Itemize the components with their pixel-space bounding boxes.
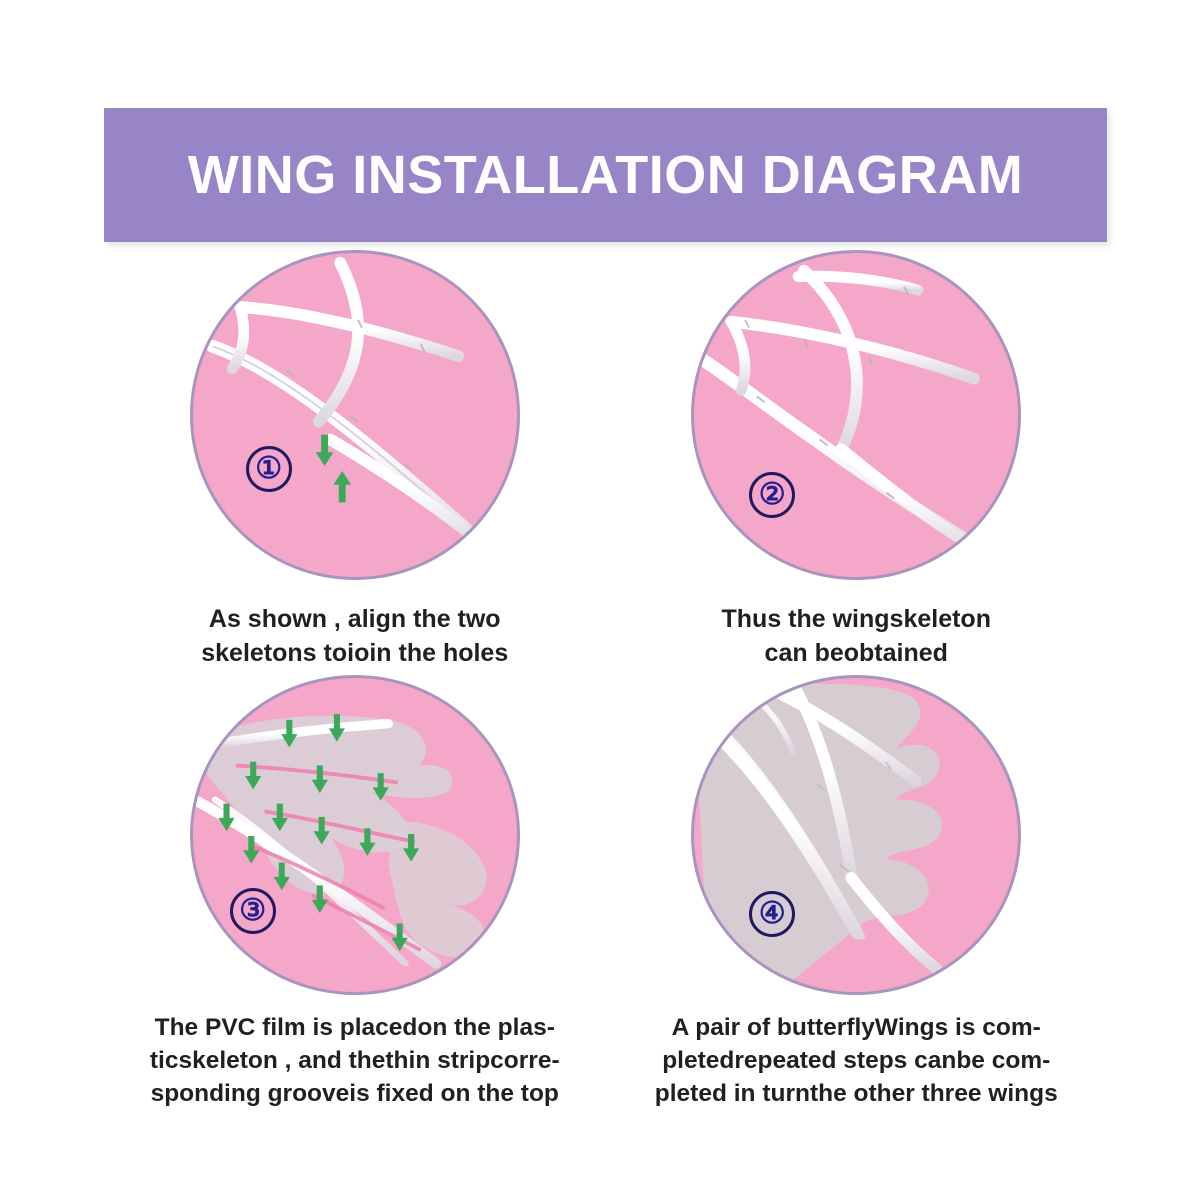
- step-2-caption-line-1: Thus the wingskeleton: [722, 602, 991, 636]
- step-2-caption-line-2: can beobtained: [722, 636, 991, 670]
- step-1-photo-clip: [193, 253, 517, 577]
- step-1-caption-line-1: As shown , align the two: [201, 602, 508, 636]
- step-4-caption-line-1: A pair of butterflyWings is com-: [655, 1011, 1058, 1044]
- steps-grid: ① As shown , align the two skeletons toi…: [104, 250, 1107, 1110]
- step-3: ③ The PVC film is placedon the plas- tic…: [104, 675, 606, 1110]
- step-badge-2: ②: [749, 472, 795, 518]
- step-3-caption-line-2: ticskeleton , and thethin stripcorre-: [150, 1044, 560, 1077]
- step-3-photo-clip: [193, 678, 517, 992]
- step-1-skeleton-illustration: [193, 253, 517, 577]
- step-3-pvc-film-illustration: [193, 678, 517, 992]
- step-2: ② Thus the wingskeleton can beobtained: [606, 250, 1108, 675]
- step-1-image-wrap: ①: [190, 250, 520, 580]
- step-4-caption-line-3: pleted in turnthe other three wings: [655, 1077, 1058, 1110]
- step-3-caption-line-3: sponding grooveis fixed on the top: [150, 1077, 560, 1110]
- step-badge-4: ④: [749, 891, 795, 937]
- step-1-caption: As shown , align the two skeletons toioi…: [201, 602, 508, 670]
- step-3-caption: The PVC film is placedon the plas- ticsk…: [150, 1011, 560, 1110]
- step-4-caption: A pair of butterflyWings is com- pletedr…: [655, 1011, 1058, 1110]
- step-2-photo-circle: [691, 250, 1021, 580]
- step-1-caption-line-2: skeletons toioin the holes: [201, 636, 508, 670]
- step-2-image-wrap: ②: [691, 250, 1021, 580]
- step-4-photo-circle: [691, 675, 1021, 995]
- header-banner: WING INSTALLATION DIAGRAM: [104, 108, 1107, 242]
- step-2-caption: Thus the wingskeleton can beobtained: [722, 602, 991, 670]
- step-1-photo-circle: [190, 250, 520, 580]
- wing-installation-diagram-page: WING INSTALLATION DIAGRAM: [0, 0, 1200, 1200]
- step-4-photo-clip: [694, 678, 1018, 992]
- step-badge-1: ①: [246, 446, 292, 492]
- step-3-caption-line-1: The PVC film is placedon the plas-: [150, 1011, 560, 1044]
- step-3-photo-circle: [190, 675, 520, 995]
- step-3-image-wrap: ③: [190, 675, 520, 995]
- step-2-photo-clip: [694, 253, 1018, 577]
- step-2-skeleton-illustration: [694, 253, 1018, 577]
- page-title: WING INSTALLATION DIAGRAM: [104, 144, 1107, 206]
- step-1: ① As shown , align the two skeletons toi…: [104, 250, 606, 675]
- step-4-finished-wing-illustration: [694, 678, 1018, 992]
- step-4: ④ A pair of butterflyWings is com- plete…: [606, 675, 1108, 1110]
- step-badge-3: ③: [230, 888, 276, 934]
- step-4-image-wrap: ④: [691, 675, 1021, 995]
- step-4-caption-line-2: pletedrepeated steps canbe com-: [655, 1044, 1058, 1077]
